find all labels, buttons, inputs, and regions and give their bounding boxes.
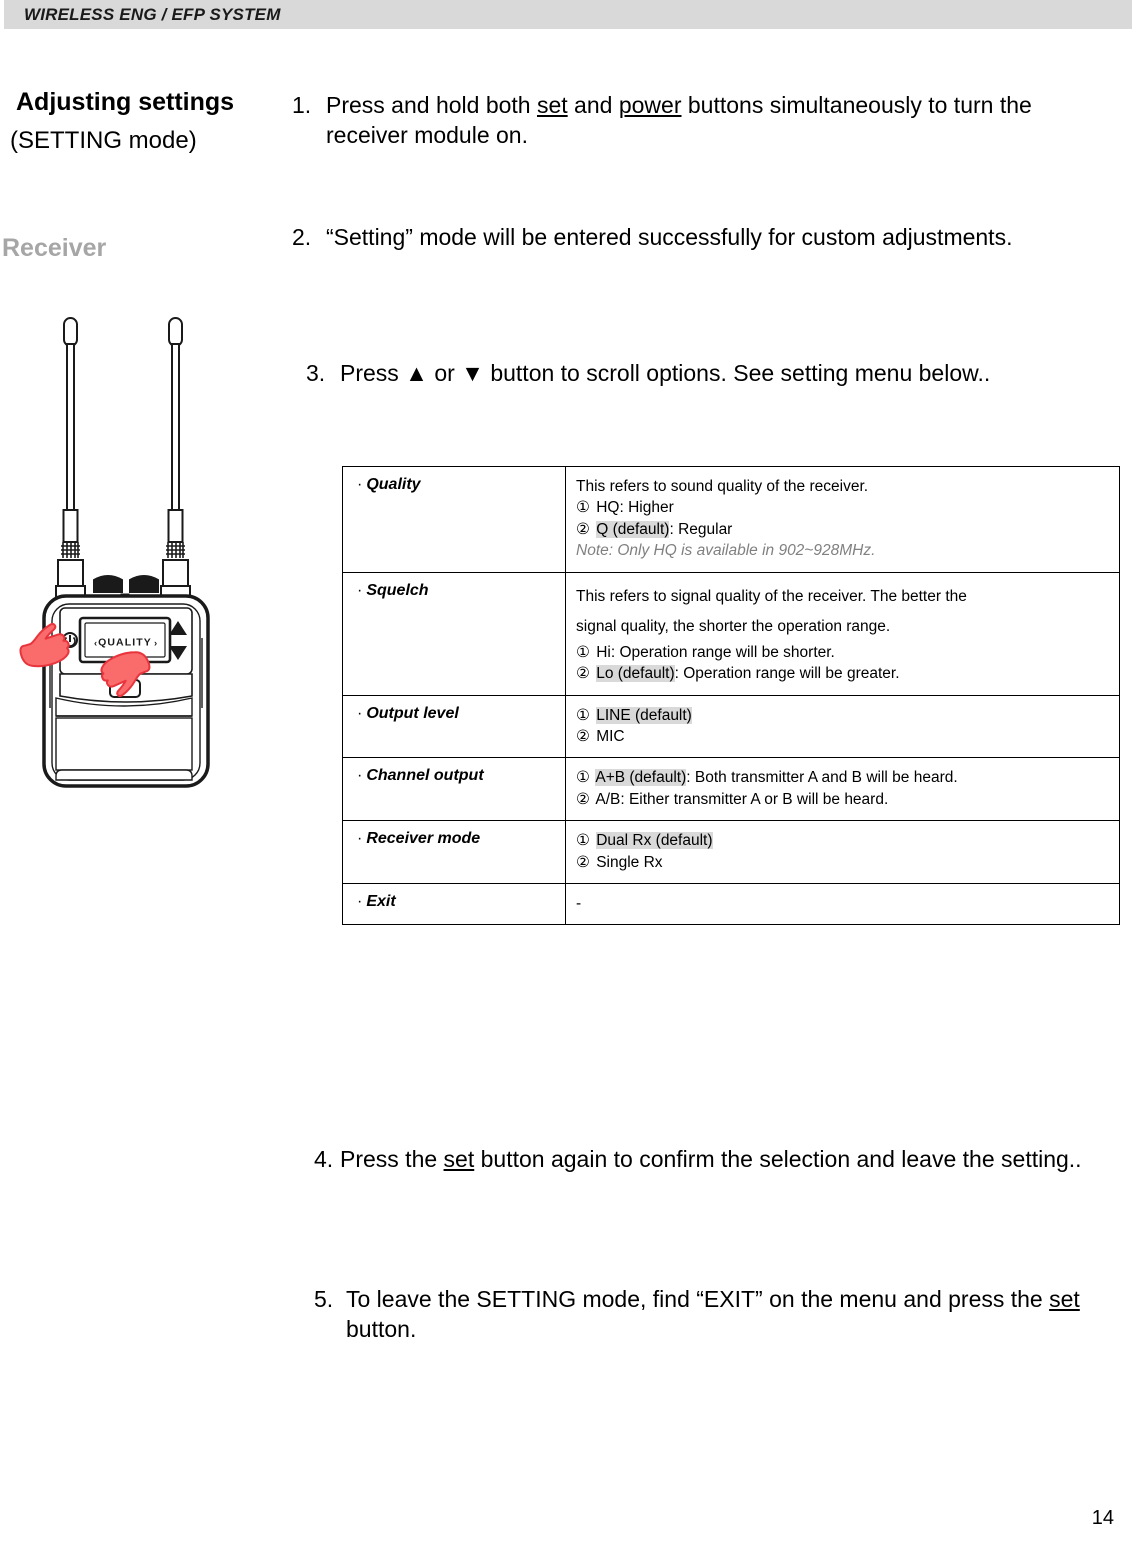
left-column: Adjusting settings (SETTING mode) Receiv… [0,88,290,263]
step-5-text: To leave the SETTING mode, find “EXIT” o… [346,1284,1114,1345]
menu-label-text: ·Channel output [357,767,484,784]
step-2-text: “Setting” mode will be entered successfu… [326,222,1082,252]
desc-line: ② Q (default): Regular [576,519,1109,540]
menu-desc-channel-output: ① A+B (default): Both transmitter A and … [566,758,1120,821]
bullet-icon: · [357,476,362,493]
page-running-header: WIRELESS ENG / EFP SYSTEM [4,0,1132,29]
step-4-number: 4. [314,1144,340,1174]
desc-line: ② A/B: Either transmitter A or B will be… [576,789,1109,810]
table-row: ·Squelch This refers to signal quality o… [343,572,1120,695]
desc-line: ① LINE (default) [576,705,1109,726]
menu-label-output-level: ·Output level [343,695,566,758]
menu-desc-squelch: This refers to signal quality of the rec… [566,572,1120,695]
step-3-text: Press ▲ or ▼ button to scroll options. S… [340,358,1096,388]
lcd-display-text: ‹ QUALITY › [94,637,158,650]
menu-label-value: Channel output [366,767,483,784]
menu-desc-receiver-mode: ① Dual Rx (default) ② Single Rx [566,821,1120,884]
option-text: HQ: Higher [596,499,674,516]
instruction-step-3: 3. Press ▲ or ▼ button to scroll options… [306,358,1096,388]
desc-line: This refers to signal quality of the rec… [576,582,1109,612]
option-marker: ① [576,769,590,786]
option-marker: ① [576,644,590,661]
step-2-number: 2. [292,222,326,252]
step-1-text: Press and hold both set and power button… [326,90,1092,151]
desc-line: ② MIC [576,726,1109,747]
step-5-number: 5. [314,1284,346,1314]
option-marker: ② [576,854,590,871]
setting-menu-body: ·Quality This refers to sound quality of… [343,467,1120,925]
step-3-number: 3. [306,358,340,388]
page-title: Adjusting settings [16,88,290,117]
page-subtitle: (SETTING mode) [10,127,290,155]
step-5-keyword-set: set [1049,1286,1080,1312]
menu-desc-quality: This refers to sound quality of the rece… [566,467,1120,573]
svg-text:QUALITY: QUALITY [98,637,152,649]
instruction-step-1: 1. Press and hold both set and power but… [292,90,1092,151]
default-value-badge: LINE (default) [596,707,692,724]
bullet-icon: · [357,582,362,599]
option-marker: ② [576,791,590,808]
desc-line: This refers to sound quality of the rece… [576,476,1109,497]
instruction-step-2: 2. “Setting” mode will be entered succes… [292,222,1082,252]
bullet-icon: · [357,830,362,847]
svg-text:‹: ‹ [94,638,98,649]
menu-label-value: Quality [366,476,420,493]
instruction-step-4: 4. Press the set button again to confirm… [314,1144,1114,1174]
option-text: : Regular [669,521,732,538]
menu-label-value: Receiver mode [366,830,480,847]
instruction-step-5: 5. To leave the SETTING mode, find “EXIT… [314,1284,1114,1345]
option-text: Single Rx [596,854,662,871]
menu-label-text: ·Exit [357,893,396,910]
menu-label-channel-output: ·Channel output [343,758,566,821]
step-4-keyword-set: set [444,1146,475,1172]
menu-label-text: ·Output level [357,705,459,722]
option-marker: ② [576,665,590,682]
option-text: : Both transmitter A and B will be heard… [686,769,957,786]
menu-label-text: ·Squelch [357,582,429,599]
table-row: ·Receiver mode ① Dual Rx (default) ② Sin… [343,821,1120,884]
page-header-title: WIRELESS ENG / EFP SYSTEM [24,5,281,25]
table-row: ·Output level ① LINE (default) ② MIC [343,695,1120,758]
desc-line: ① Dual Rx (default) [576,830,1109,851]
default-value-badge: Lo (default) [596,665,674,682]
step-4-text: Press the set button again to confirm th… [340,1144,1114,1174]
desc-line: ① A+B (default): Both transmitter A and … [576,767,1109,788]
table-row: ·Quality This refers to sound quality of… [343,467,1120,573]
option-marker: ① [576,707,590,724]
menu-label-value: Squelch [366,582,428,599]
antenna-left [56,318,85,600]
page-number: 14 [1092,1507,1114,1530]
menu-label-value: Exit [366,893,395,910]
bullet-icon: · [357,893,362,910]
bullet-icon: · [357,705,362,722]
svg-text:›: › [154,638,158,649]
step-1-keyword-power: power [619,92,682,118]
table-row: ·Exit - [343,883,1120,924]
option-text: MIC [596,728,624,745]
desc-line: ① Hi: Operation range will be shorter. [576,642,1109,663]
option-marker: ② [576,728,590,745]
menu-label-value: Output level [366,705,458,722]
option-marker: ① [576,499,590,516]
desc-line: ② Single Rx [576,852,1109,873]
receiver-device-illustration: ‹ QUALITY › [6,308,276,788]
menu-label-squelch: ·Squelch [343,572,566,695]
default-value-badge: Dual Rx (default) [596,832,712,849]
step-1-number: 1. [292,90,326,120]
menu-label-text: ·Quality [357,476,421,493]
option-text: Hi: Operation range will be shorter. [596,644,835,661]
menu-label-quality: ·Quality [343,467,566,573]
option-text: A/B: Either transmitter A or B will be h… [595,791,888,808]
menu-label-text: ·Receiver mode [357,830,480,847]
menu-label-exit: ·Exit [343,883,566,924]
antenna-right [161,318,190,600]
option-marker: ① [576,832,590,849]
menu-desc-exit: - [566,883,1120,924]
desc-line: ② Lo (default): Operation range will be … [576,663,1109,684]
option-marker: ② [576,521,590,538]
desc-line: signal quality, the shorter the operatio… [576,612,1109,642]
desc-line: - [576,893,1109,914]
table-row: ·Channel output ① A+B (default): Both tr… [343,758,1120,821]
default-value-badge: Q (default) [596,521,669,538]
menu-label-receiver-mode: ·Receiver mode [343,821,566,884]
menu-desc-output-level: ① LINE (default) ② MIC [566,695,1120,758]
option-text: : Operation range will be greater. [675,665,900,682]
bullet-icon: · [357,767,362,784]
default-value-badge: A+B (default) [595,769,686,786]
setting-menu-table: ·Quality This refers to sound quality of… [342,466,1120,925]
desc-note: Note: Only HQ is available in 902~928MHz… [576,540,1109,561]
section-label-receiver: Receiver [2,234,290,263]
step-1-keyword-set: set [537,92,568,118]
desc-line: ① HQ: Higher [576,497,1109,518]
